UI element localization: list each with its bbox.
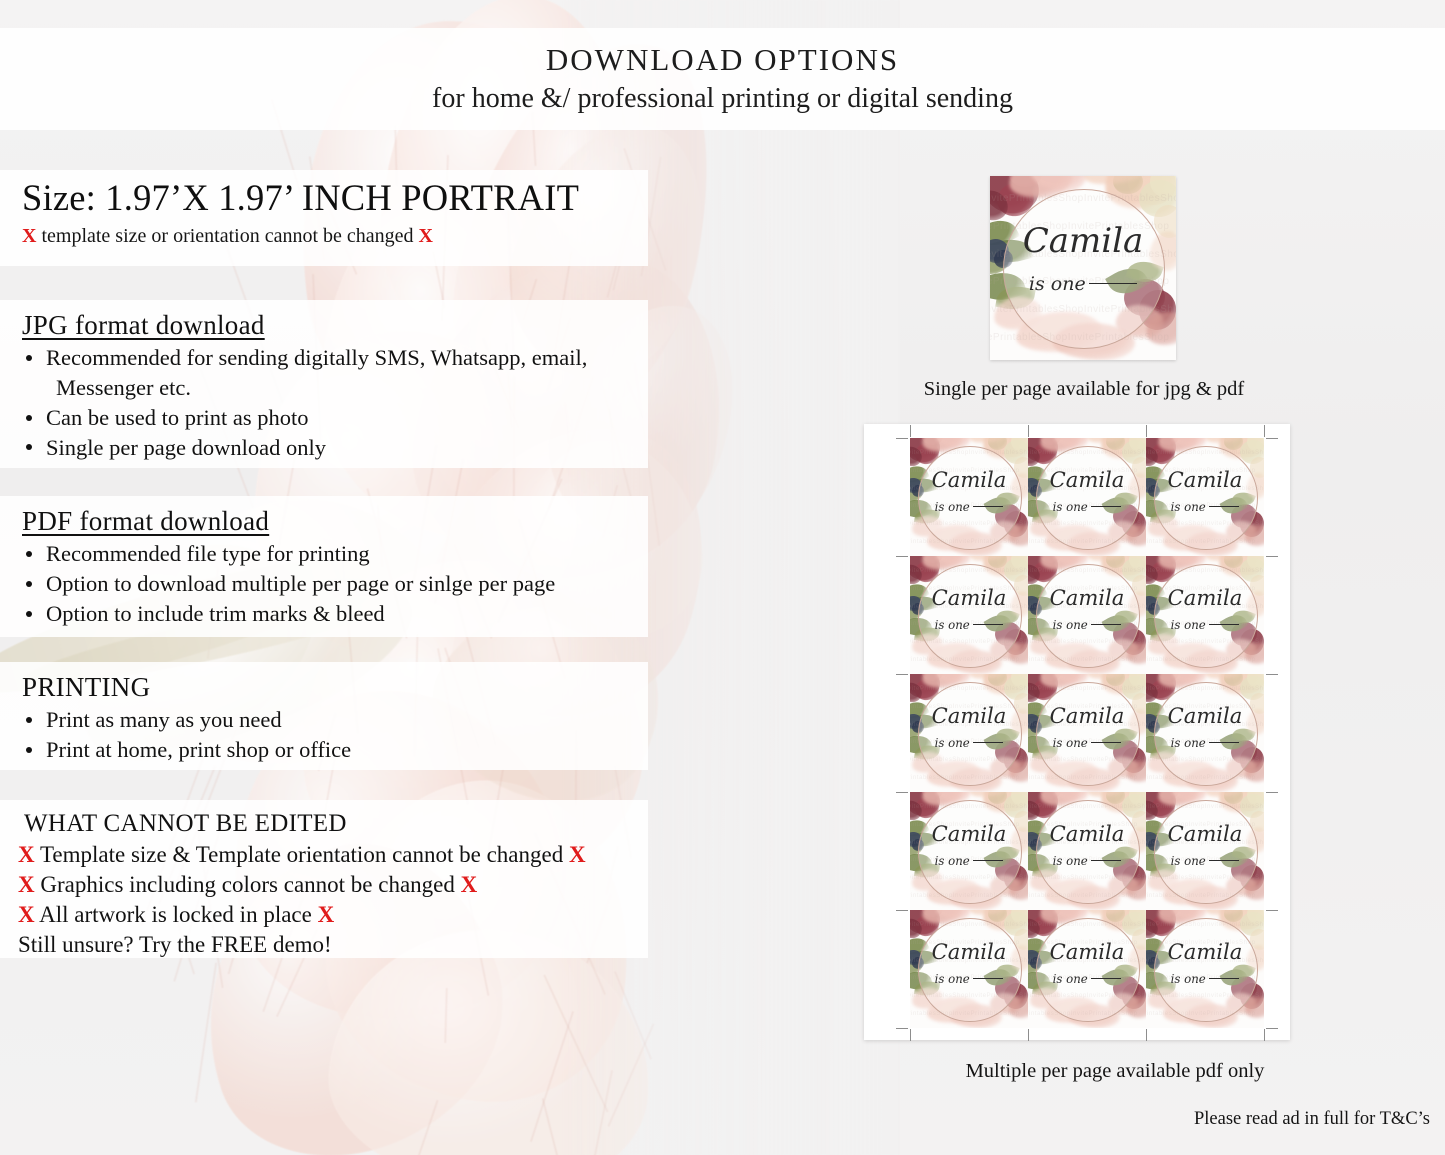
bullet-icon: [26, 717, 32, 723]
cannot-edit-line-label: All artwork is locked in place: [39, 902, 312, 927]
terms-note: Please read ad in full for T&C’s: [900, 1109, 1430, 1130]
cannot-edit-line: X Graphics including colors cannot be ch…: [18, 870, 632, 900]
tag-name: Camila: [1146, 705, 1264, 726]
bullet-icon: [26, 581, 32, 587]
watermark: InvitePrintablesShopInvitePrintablesShop…: [1028, 792, 1146, 910]
tag-subtitle: is one: [1146, 856, 1264, 868]
single-preview-caption: Single per page available for jpg & pdf: [862, 378, 1306, 401]
jpg-format-panel: JPG format download Recommended for send…: [0, 300, 648, 468]
tag-grid-cell: InvitePrintablesShopInvitePrintablesShop…: [910, 556, 1028, 674]
bullet-icon: [26, 415, 32, 421]
tag-subtitle: is one: [910, 856, 1028, 868]
tag-grid-cell: InvitePrintablesShopInvitePrintablesShop…: [1028, 792, 1146, 910]
tag-grid-cell: InvitePrintablesShopInvitePrintablesShop…: [910, 792, 1028, 910]
printing-panel: PRINTING Print as many as you need Print…: [0, 662, 648, 770]
x-mark-icon: X: [18, 842, 35, 867]
tag-artwork: InvitePrintablesShopInvitePrintablesShop…: [1146, 910, 1264, 1028]
tag-subtitle: is one: [1028, 974, 1146, 986]
x-mark-icon: X: [461, 872, 478, 897]
tag-subtitle: is one: [910, 620, 1028, 632]
tag-artwork: InvitePrintablesShopInvitePrintablesShop…: [910, 792, 1028, 910]
tag-subtitle: is one: [990, 275, 1176, 294]
cannot-edit-line-label: Template size & Template orientation can…: [40, 842, 563, 867]
pdf-list: Recommended file type for printing Optio…: [22, 539, 632, 629]
tag-artwork: InvitePrintablesShopInvitePrintablesShop…: [990, 176, 1176, 360]
tag-subtitle: is one: [1028, 620, 1146, 632]
list-item-label: Recommended for sending digitally SMS, W…: [46, 345, 587, 370]
list-item: Can be used to print as photo: [22, 403, 632, 433]
single-tag-preview: InvitePrintablesShopInvitePrintablesShop…: [990, 176, 1176, 360]
tag-grid-cell: InvitePrintablesShopInvitePrintablesShop…: [910, 674, 1028, 792]
tag-grid-cell: InvitePrintablesShopInvitePrintablesShop…: [1146, 792, 1264, 910]
watermark: InvitePrintablesShopInvitePrintablesShop…: [910, 674, 1028, 792]
multi-preview-caption: Multiple per page available pdf only: [862, 1060, 1368, 1083]
tag-subtitle: is one: [1146, 738, 1264, 750]
x-mark-icon: X: [18, 902, 35, 927]
tag-name: Camila: [910, 469, 1028, 490]
jpg-list: Recommended for sending digitally SMS, W…: [22, 343, 632, 463]
tag-grid-cell: InvitePrintablesShopInvitePrintablesShop…: [1028, 438, 1146, 556]
tag-artwork: InvitePrintablesShopInvitePrintablesShop…: [1146, 792, 1264, 910]
size-panel: Size: 1.97’X 1.97’ INCH PORTRAIT X templ…: [0, 170, 648, 266]
tag-grid-cell: InvitePrintablesShopInvitePrintablesShop…: [910, 910, 1028, 1028]
tag-name: Camila: [910, 587, 1028, 608]
cannot-edit-line: X Template size & Template orientation c…: [18, 840, 632, 870]
list-item: Option to download multiple per page or …: [22, 569, 632, 599]
tag-name: Camila: [1028, 941, 1146, 962]
x-mark-icon: X: [22, 225, 36, 247]
tag-name: Camila: [1028, 469, 1146, 490]
tag-artwork: InvitePrintablesShopInvitePrintablesShop…: [910, 674, 1028, 792]
tag-name: Camila: [1028, 587, 1146, 608]
list-item-label: Option to download multiple per page or …: [46, 571, 555, 596]
list-item: Print at home, print shop or office: [22, 735, 632, 765]
tag-grid-cell: InvitePrintablesShopInvitePrintablesShop…: [1028, 910, 1146, 1028]
tag-artwork: InvitePrintablesShopInvitePrintablesShop…: [1146, 438, 1264, 556]
tag-artwork: InvitePrintablesShopInvitePrintablesShop…: [1028, 792, 1146, 910]
tag-name: Camila: [910, 823, 1028, 844]
tag-subtitle: is one: [910, 502, 1028, 514]
printing-heading: PRINTING: [22, 672, 632, 703]
list-item: Messenger etc.: [22, 373, 632, 403]
tag-grid-cell: InvitePrintablesShopInvitePrintablesShop…: [1146, 674, 1264, 792]
size-note-text: template size or orientation cannot be c…: [36, 225, 418, 247]
tag-grid-cell: InvitePrintablesShopInvitePrintablesShop…: [910, 438, 1028, 556]
tag-artwork: InvitePrintablesShopInvitePrintablesShop…: [910, 556, 1028, 674]
watermark: InvitePrintablesShopInvitePrintablesShop…: [1146, 556, 1264, 674]
cannot-edit-panel: WHAT CANNOT BE EDITED X Template size & …: [0, 800, 648, 958]
list-item: Recommended file type for printing: [22, 539, 632, 569]
list-item-label: Messenger etc.: [56, 375, 191, 400]
list-item-label: Option to include trim marks & bleed: [46, 601, 385, 626]
tag-grid-cell: InvitePrintablesShopInvitePrintablesShop…: [1146, 556, 1264, 674]
watermark: InvitePrintablesShopInvitePrintablesShop…: [1146, 674, 1264, 792]
x-mark-icon: X: [419, 225, 433, 247]
tag-subtitle: is one: [910, 974, 1028, 986]
tag-subtitle: is one: [1146, 974, 1264, 986]
tag-artwork: InvitePrintablesShopInvitePrintablesShop…: [1146, 674, 1264, 792]
tag-subtitle: is one: [1028, 856, 1146, 868]
x-mark-icon: X: [318, 902, 335, 927]
list-item-label: Recommended file type for printing: [46, 541, 370, 566]
tag-name: Camila: [1146, 823, 1264, 844]
tag-artwork: InvitePrintablesShopInvitePrintablesShop…: [1028, 556, 1146, 674]
watermark: InvitePrintablesShopInvitePrintablesShop…: [1146, 792, 1264, 910]
tag-artwork: InvitePrintablesShopInvitePrintablesShop…: [910, 910, 1028, 1028]
tag-subtitle: is one: [1028, 738, 1146, 750]
tag-artwork: InvitePrintablesShopInvitePrintablesShop…: [1028, 910, 1146, 1028]
tag-name: Camila: [990, 224, 1176, 258]
tag-name: Camila: [1146, 941, 1264, 962]
list-item: Print as many as you need: [22, 705, 632, 735]
list-item-label: Print at home, print shop or office: [46, 737, 351, 762]
page-title: DOWNLOAD OPTIONS: [546, 42, 899, 78]
tag-artwork: InvitePrintablesShopInvitePrintablesShop…: [1028, 438, 1146, 556]
cannot-edit-line: X All artwork is locked in place X: [18, 900, 632, 930]
watermark: InvitePrintablesShopInvitePrintablesShop…: [1146, 910, 1264, 1028]
multi-per-page-sheet: InvitePrintablesShopInvitePrintablesShop…: [864, 424, 1290, 1040]
watermark: InvitePrintablesShopInvitePrintablesShop…: [1028, 556, 1146, 674]
poster-canvas: DOWNLOAD OPTIONS for home &/ professiona…: [0, 0, 1445, 1155]
bullet-icon: [26, 747, 32, 753]
cannot-edit-line-label: Graphics including colors cannot be chan…: [40, 872, 455, 897]
tag-name: Camila: [910, 941, 1028, 962]
tag-name: Camila: [1146, 469, 1264, 490]
list-item-label: Can be used to print as photo: [46, 405, 308, 430]
tag-grid-cell: InvitePrintablesShopInvitePrintablesShop…: [1028, 556, 1146, 674]
tag-name: Camila: [1028, 705, 1146, 726]
jpg-heading: JPG format download: [22, 310, 632, 341]
tag-name: Camila: [1146, 587, 1264, 608]
tag-name: Camila: [1028, 823, 1146, 844]
header-band: DOWNLOAD OPTIONS for home &/ professiona…: [0, 28, 1445, 130]
list-item: Recommended for sending digitally SMS, W…: [22, 343, 632, 373]
tag-subtitle: is one: [1146, 502, 1264, 514]
bullet-icon: [26, 444, 32, 450]
tag-subtitle: is one: [1146, 620, 1264, 632]
watermark: InvitePrintablesShopInvitePrintablesShop…: [910, 438, 1028, 556]
tag-grid-cell: InvitePrintablesShopInvitePrintablesShop…: [1146, 910, 1264, 1028]
watermark: InvitePrintablesShopInvitePrintablesShop…: [990, 176, 1176, 360]
bullet-icon: [26, 551, 32, 557]
watermark: InvitePrintablesShopInvitePrintablesShop…: [1146, 438, 1264, 556]
cannot-edit-heading: WHAT CANNOT BE EDITED: [18, 810, 632, 838]
list-item-label: Print as many as you need: [46, 707, 282, 732]
watermark: InvitePrintablesShopInvitePrintablesShop…: [910, 910, 1028, 1028]
size-title: Size: 1.97’X 1.97’ INCH PORTRAIT: [22, 178, 632, 219]
tag-subtitle: is one: [1028, 502, 1146, 514]
size-note: X template size or orientation cannot be…: [22, 224, 632, 248]
tag-artwork: InvitePrintablesShopInvitePrintablesShop…: [1028, 674, 1146, 792]
watermark: InvitePrintablesShopInvitePrintablesShop…: [910, 792, 1028, 910]
watermark: InvitePrintablesShopInvitePrintablesShop…: [910, 556, 1028, 674]
printing-list: Print as many as you need Print at home,…: [22, 705, 632, 765]
tag-subtitle: is one: [910, 738, 1028, 750]
tag-artwork: InvitePrintablesShopInvitePrintablesShop…: [910, 438, 1028, 556]
tag-name: Camila: [910, 705, 1028, 726]
x-mark-icon: X: [18, 872, 35, 897]
bullet-icon: [26, 611, 32, 617]
watermark: InvitePrintablesShopInvitePrintablesShop…: [1028, 674, 1146, 792]
watermark: InvitePrintablesShopInvitePrintablesShop…: [1028, 438, 1146, 556]
tag-artwork: InvitePrintablesShopInvitePrintablesShop…: [1146, 556, 1264, 674]
x-mark-icon: X: [569, 842, 586, 867]
tag-grid-cell: InvitePrintablesShopInvitePrintablesShop…: [1028, 674, 1146, 792]
list-item-label: Single per page download only: [46, 435, 326, 460]
bullet-icon: [26, 355, 32, 361]
page-subtitle: for home &/ professional printing or dig…: [432, 81, 1013, 116]
list-item: Option to include trim marks & bleed: [22, 599, 632, 629]
tag-grid: InvitePrintablesShopInvitePrintablesShop…: [910, 438, 1264, 1028]
tag-grid-cell: InvitePrintablesShopInvitePrintablesShop…: [1146, 438, 1264, 556]
free-demo-line: Still unsure? Try the FREE demo!: [18, 930, 632, 960]
pdf-format-panel: PDF format download Recommended file typ…: [0, 496, 648, 637]
list-item: Single per page download only: [22, 433, 632, 463]
watermark: InvitePrintablesShopInvitePrintablesShop…: [1028, 910, 1146, 1028]
pdf-heading: PDF format download: [22, 506, 632, 537]
